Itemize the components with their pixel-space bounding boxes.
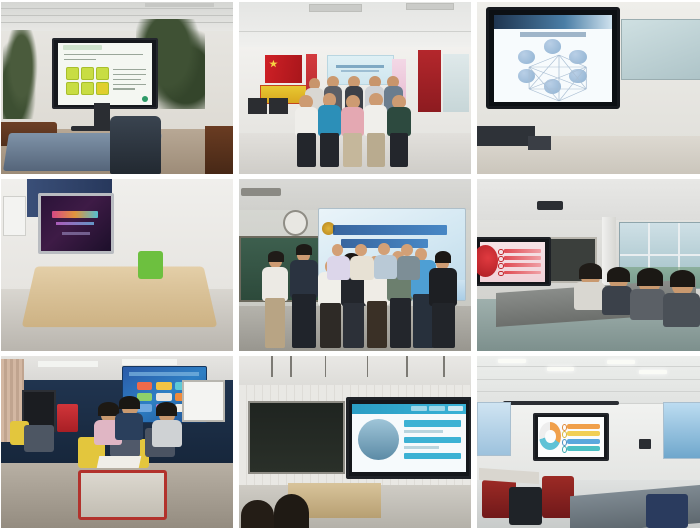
photo-middle-right — [477, 179, 700, 351]
photo-middle-center — [239, 179, 471, 351]
photo-bottom-left — [1, 356, 233, 528]
photo-middle-left — [1, 179, 233, 351]
smartboard-display — [52, 38, 158, 109]
collage-cell-2[interactable] — [239, 2, 471, 174]
photo-top-left — [1, 2, 233, 174]
collage-cell-8[interactable] — [239, 356, 471, 528]
node-links-icon — [494, 15, 611, 102]
collage-cell-4[interactable] — [1, 179, 233, 351]
photo-bottom-right — [477, 356, 700, 528]
collage-cell-6[interactable] — [477, 179, 700, 351]
photo-collage-grid — [0, 0, 700, 525]
collage-cell-7[interactable] — [1, 356, 233, 528]
red-slide-display — [477, 237, 551, 286]
photo-top-center — [239, 2, 471, 174]
collage-cell-9[interactable] — [477, 356, 700, 528]
photo-top-right — [477, 2, 700, 174]
courseware-display — [346, 397, 471, 479]
photo-bottom-center — [239, 356, 471, 528]
presentation-display — [38, 193, 114, 254]
donut-chart-icon — [539, 422, 561, 450]
network-diagram-display — [486, 7, 620, 109]
collage-cell-3[interactable] — [477, 2, 700, 174]
collage-cell-5[interactable] — [239, 179, 471, 351]
ceiling-projector-icon — [537, 201, 563, 210]
collage-cell-1[interactable] — [1, 2, 233, 174]
party-flag — [265, 55, 302, 83]
colored-bar-slide-display — [533, 413, 609, 462]
